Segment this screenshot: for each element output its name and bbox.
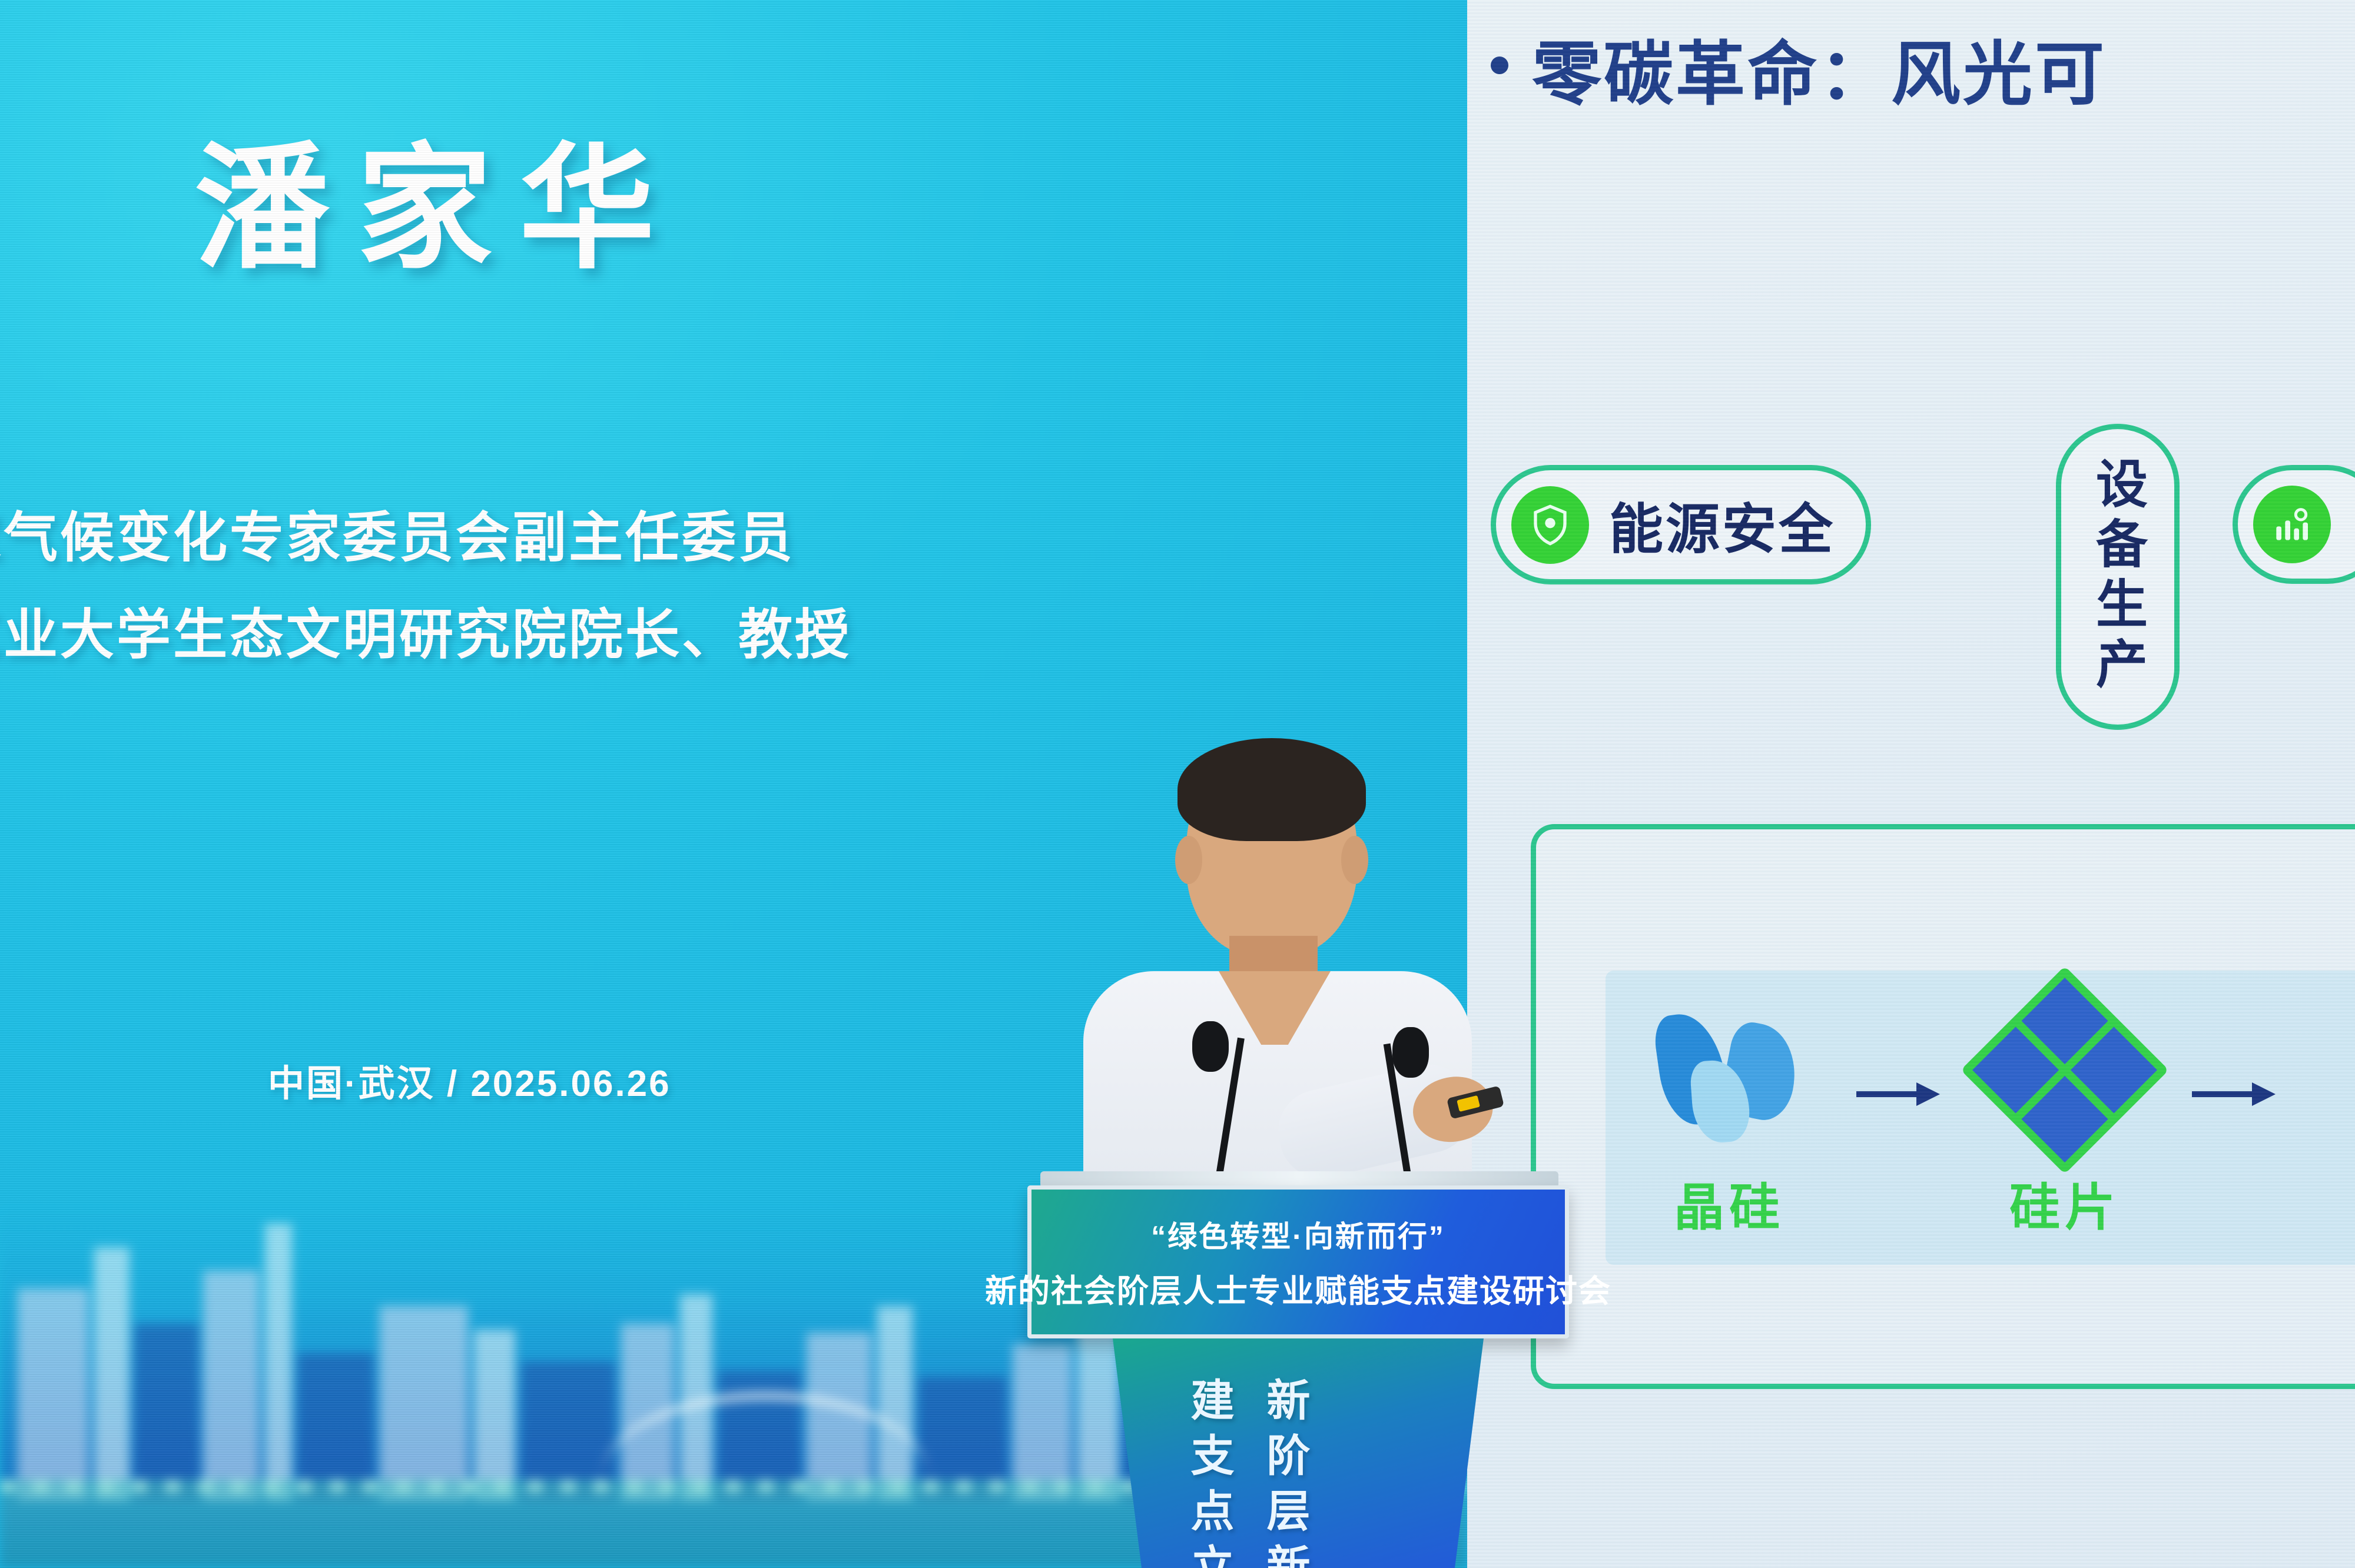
badge-economic-growth[interactable] — [2233, 465, 2355, 584]
flow-step-label: 晶硅 — [1606, 1166, 1853, 1240]
speaker-title-line-1: 家气候变化专家委员会副主任委员 — [0, 494, 851, 582]
shield-icon — [1511, 486, 1589, 564]
badge-label: 能源安全 — [1609, 486, 1835, 564]
microphone-right-head — [1392, 1027, 1429, 1078]
presentation-scene: 潘家华 家气候变化专家委员会副主任委员 工业大学生态文明研究院院长、教授 中国·… — [0, 0, 2355, 1568]
podium: “绿色转型·向新而行” 新的社会阶层人士专业赋能支点建设研讨会 建支点立 新阶层… — [1027, 1171, 1569, 1568]
flow-arrow-icon — [2188, 1077, 2277, 1112]
building — [203, 1271, 259, 1500]
podium-banner-line-2: 新的社会阶层人士专业赋能支点建设研讨会 — [985, 1265, 1611, 1311]
flow-arrow-icon — [1853, 1077, 1941, 1112]
speaker-titles: 家气候变化专家委员会副主任委员 工业大学生态文明研究院院长、教授 — [0, 494, 851, 689]
building — [134, 1324, 199, 1500]
speaker-ear — [1175, 836, 1202, 884]
podium-slogan-column-1: 建支点立 — [1177, 1377, 1240, 1568]
speaker-hair — [1177, 738, 1366, 841]
speaker-title-line-2: 工业大学生态文明研究院院长、教授 — [0, 592, 851, 679]
building — [297, 1353, 374, 1500]
slide-bullet-text: 零碳革命：风光可 — [1532, 18, 2107, 118]
event-location-date: 中国·武汉 / 2025.06.26 — [268, 1054, 671, 1107]
badge-row: 能源安全 设备生产 — [1467, 453, 2355, 630]
podium-slogan-column-2: 新阶层新 — [1253, 1377, 1316, 1568]
podium-banner-line-1: “绿色转型·向新而行” — [1151, 1213, 1445, 1255]
building — [265, 1224, 292, 1500]
slide-bullet-line: 零碳革命：风光可 — [1491, 18, 2355, 118]
process-flow-card: 晶硅 硅片 — [1531, 824, 2355, 1389]
building — [94, 1247, 130, 1500]
projection-slide: 零碳革命：风光可 能源安全 设备生产 — [1467, 0, 2355, 1568]
silicon-crystal-icon — [1656, 996, 1803, 1144]
silicon-wafer-icon — [1961, 966, 2169, 1174]
flow-step-silicon-wafer: 硅片 — [1941, 996, 2188, 1240]
speaker-name: 潘家华 — [194, 141, 682, 277]
podium-banner: “绿色转型·向新而行” 新的社会阶层人士专业赋能支点建设研讨会 — [1027, 1185, 1569, 1338]
microphone-left-head — [1192, 1021, 1229, 1072]
bar-chart-icon — [2253, 486, 2331, 563]
flow-step-crystal-silicon: 晶硅 — [1606, 996, 1853, 1240]
badge-energy-security[interactable]: 能源安全 — [1491, 465, 1871, 584]
speaker-figure — [1060, 748, 1495, 1218]
building — [474, 1330, 515, 1500]
building — [18, 1288, 88, 1500]
flow-step-label: 硅片 — [1941, 1166, 2188, 1240]
process-flow-inner: 晶硅 硅片 — [1606, 971, 2355, 1265]
bullet-dot-icon — [1491, 57, 1508, 74]
badge-equipment-production[interactable]: 设备生产 — [2056, 424, 2180, 730]
badge-label: 设备生产 — [2081, 457, 2155, 697]
speaker-ear — [1341, 836, 1368, 884]
building — [380, 1306, 468, 1500]
podium-vertical-slogan: 建支点立 新阶层新 — [1177, 1377, 1316, 1568]
